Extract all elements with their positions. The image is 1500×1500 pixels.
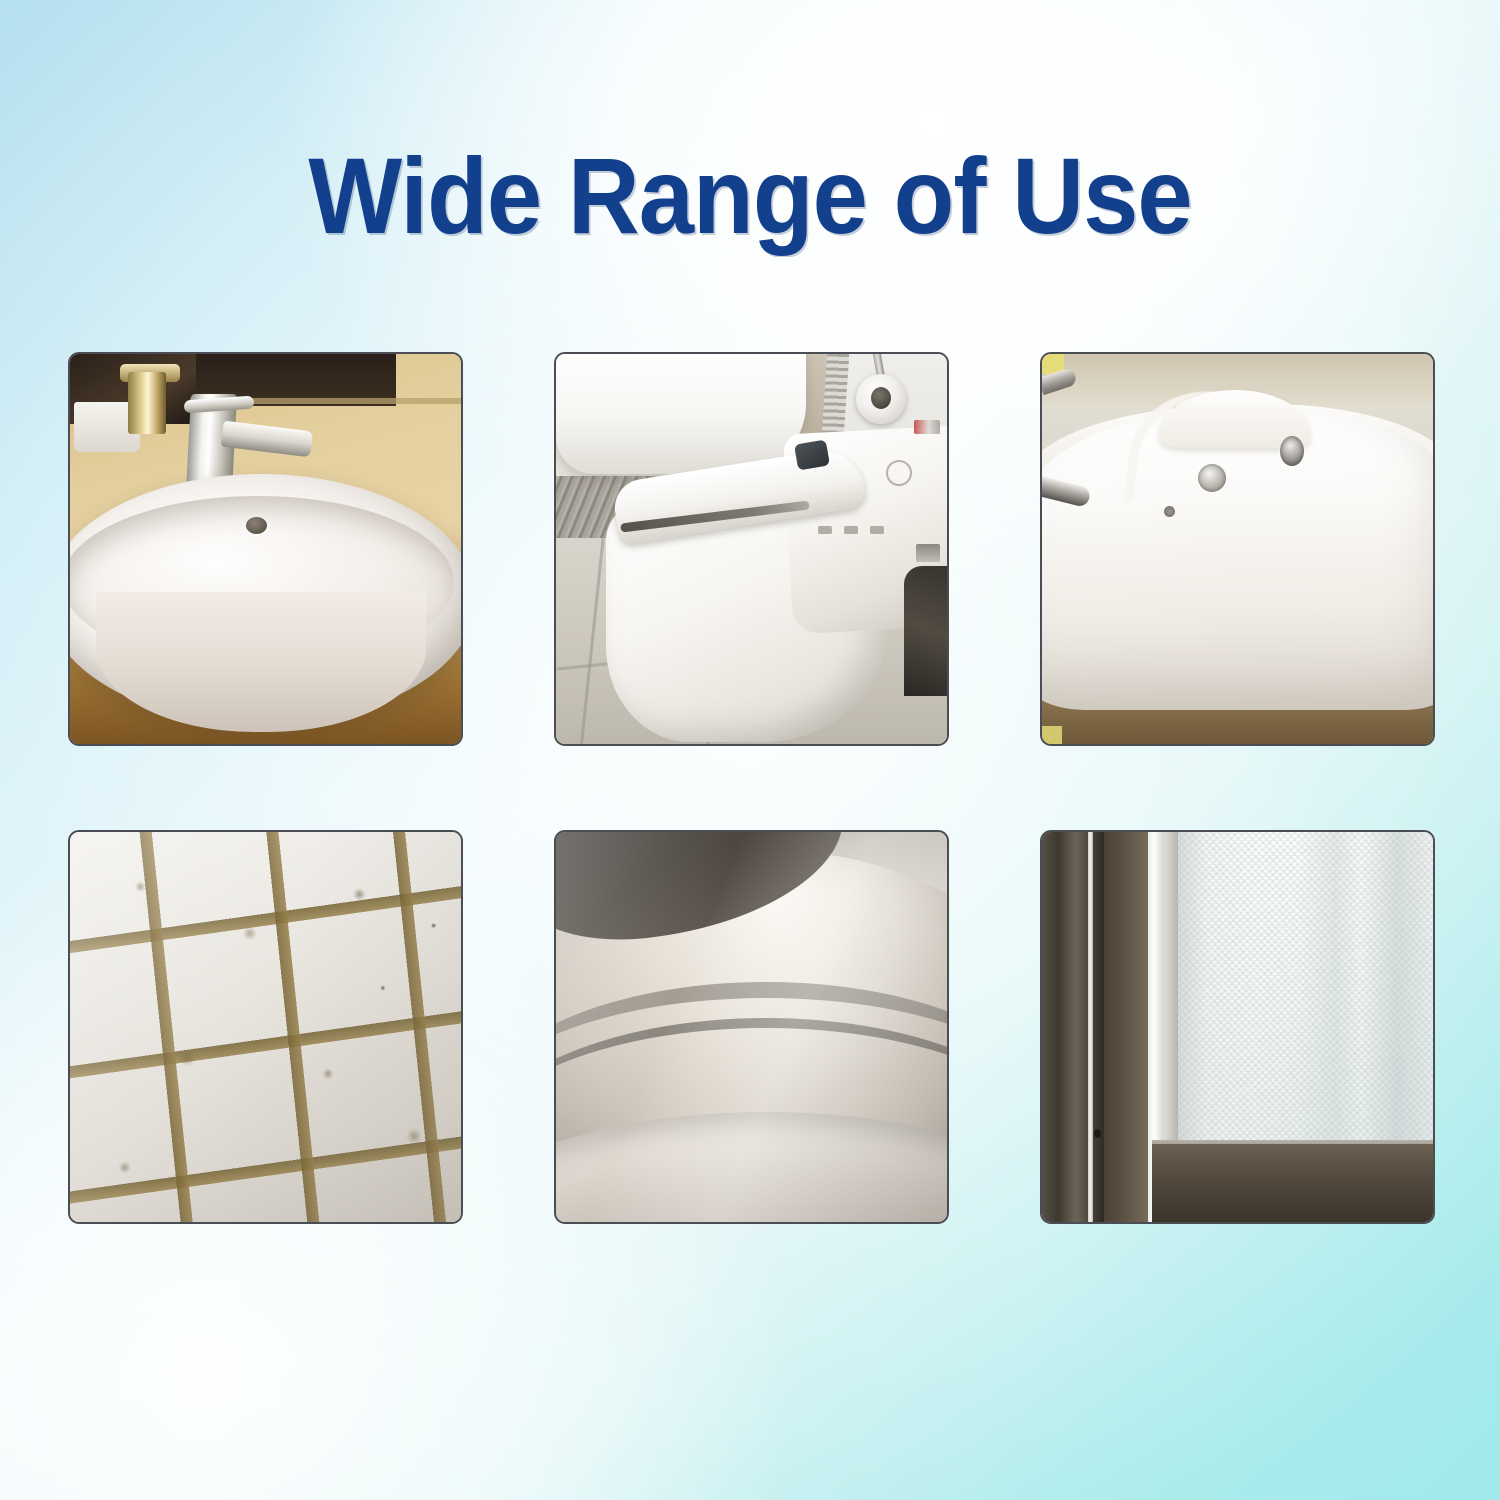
secondary-faucet [128,372,166,434]
door-frame-outer [1042,832,1104,1222]
whirlpool-bathtub-image [1042,354,1433,744]
whirlpool-jet-small [1164,506,1175,517]
metal-gloss [556,832,947,1222]
console-indicator [844,526,858,534]
console-side-shadow [904,566,947,696]
door-frame-highlight [1088,832,1093,1222]
photo-tile-tile-grout-mold [68,830,463,1224]
console-indicator [818,526,832,534]
seat-lever [794,439,830,470]
bathroom-sink-image [70,354,461,744]
console-indicator [870,526,884,534]
photo-tile-whirlpool-bathtub [1040,352,1435,746]
door-frame-inner [1104,832,1152,1222]
console-label-bottom [916,544,940,562]
toilet-tank [556,354,806,474]
product-feature-page: Wide Range of Use [0,0,1500,1500]
frosted-glass-door-image [1042,832,1433,1222]
lighting-shade [70,832,461,1222]
photo-tile-washing-machine-drum [554,830,949,1224]
page-title: Wide Range of Use [308,142,1191,250]
whirlpool-jet [1280,436,1304,466]
console-button-ring [886,460,912,486]
console-label-top [914,420,940,434]
sink-drain [246,517,267,534]
photo-tile-frosted-glass-door [1040,830,1435,1224]
smart-toilet-image [556,354,947,744]
whirlpool-jet [1198,464,1226,492]
page-title-area: Wide Range of Use [0,142,1500,250]
tile-grout-mold-image [70,832,461,1222]
washing-machine-drum-image [556,832,947,1222]
faucet-spout [221,421,313,458]
shutoff-valve [856,374,906,424]
frame-screw [1094,1129,1101,1138]
door-sill [1152,1144,1433,1222]
use-case-photo-grid [68,352,1434,1224]
photo-tile-smart-toilet [554,352,949,746]
photo-tile-bathroom-sink [68,352,463,746]
corner-highlight [1042,726,1062,744]
